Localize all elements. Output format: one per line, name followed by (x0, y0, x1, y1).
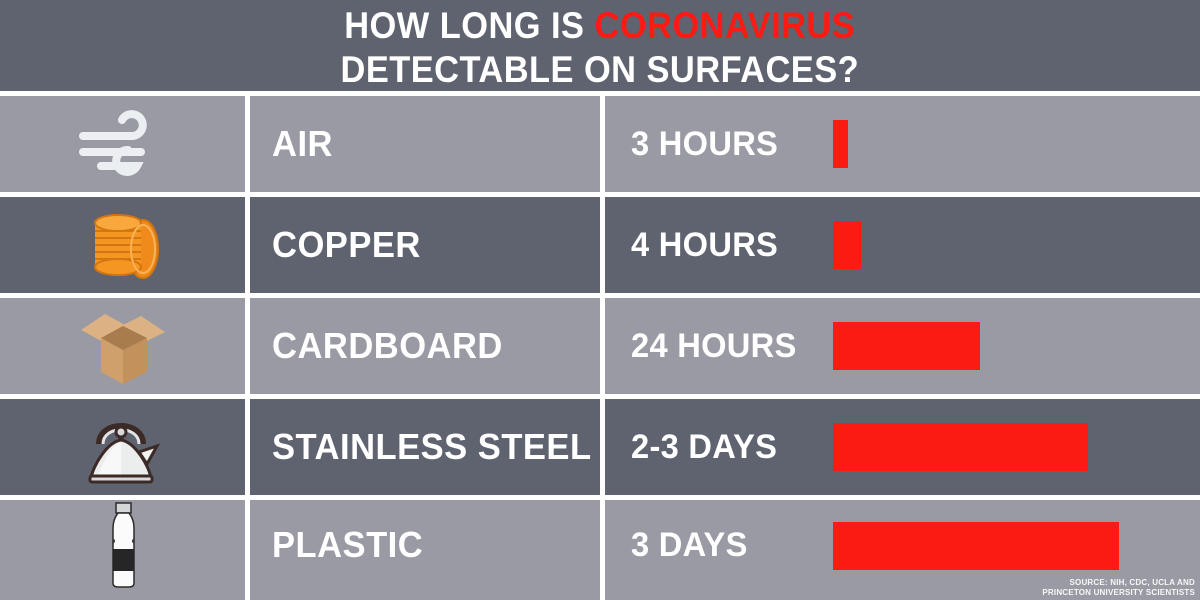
surface-label-cell: COPPER (250, 197, 595, 293)
cardboard-box-icon (68, 306, 178, 386)
surface-label: COPPER (272, 224, 421, 266)
page-title-line-1: HOW LONG IS CORONAVIRUS (345, 4, 856, 48)
surface-label-cell: PLASTIC (250, 500, 595, 590)
duration-bar (833, 322, 980, 370)
source-line-2: PRINCETON UNIVERSITY SCIENTISTS (1042, 588, 1195, 598)
table-row: PLASTIC 3 DAYS (0, 500, 1200, 600)
page-title-line-2: DETECTABLE ON SURFACES? (341, 48, 860, 92)
surface-label-cell: STAINLESS STEEL (250, 399, 595, 495)
plastic-bottle-icon (68, 505, 178, 585)
kettle-icon (68, 407, 178, 487)
surface-label-cell: AIR (250, 96, 595, 192)
surface-label: PLASTIC (272, 524, 423, 566)
duration-bar (833, 221, 861, 269)
table-row: AIR 3 HOURS (0, 96, 1200, 192)
duration-cell: 4 HOURS (605, 197, 1200, 293)
duration-label: 24 HOURS (631, 298, 797, 394)
duration-bar (833, 522, 1119, 570)
duration-label: 3 HOURS (631, 96, 778, 192)
duration-label: 4 HOURS (631, 197, 778, 293)
duration-cell: 2-3 DAYS (605, 399, 1200, 495)
source-line-1: SOURCE: NIH, CDC, UCLA AND (1042, 578, 1195, 588)
coin-stack-icon (68, 205, 178, 285)
duration-cell: 24 HOURS (605, 298, 1200, 394)
icon-cell (0, 96, 245, 192)
duration-label: 3 DAYS (631, 500, 748, 590)
icon-cell (0, 500, 245, 590)
icon-cell (0, 197, 245, 293)
title-text-plain: HOW LONG IS (345, 5, 595, 46)
icon-cell (0, 298, 245, 394)
duration-bar (833, 120, 848, 168)
table-row: CARDBOARD 24 HOURS (0, 298, 1200, 394)
duration-cell: 3 HOURS (605, 96, 1200, 192)
surface-label: STAINLESS STEEL (272, 426, 592, 468)
duration-label: 2-3 DAYS (631, 399, 777, 495)
table-row: STAINLESS STEEL 2-3 DAYS (0, 399, 1200, 495)
surface-label: AIR (272, 123, 333, 165)
icon-cell (0, 399, 245, 495)
duration-cell: 3 DAYS (605, 500, 1200, 590)
source-note: SOURCE: NIH, CDC, UCLA AND PRINCETON UNI… (1042, 578, 1195, 598)
infographic-canvas: HOW LONG IS CORONAVIRUS DETECTABLE ON SU… (0, 0, 1200, 600)
infographic-header: HOW LONG IS CORONAVIRUS DETECTABLE ON SU… (0, 0, 1200, 96)
surface-label-cell: CARDBOARD (250, 298, 595, 394)
duration-bar (833, 423, 1088, 471)
surface-label: CARDBOARD (272, 325, 503, 367)
table-row: COPPER 4 HOURS (0, 197, 1200, 293)
title-text-accent: CORONAVIRUS (595, 5, 856, 46)
wind-icon (68, 104, 178, 184)
